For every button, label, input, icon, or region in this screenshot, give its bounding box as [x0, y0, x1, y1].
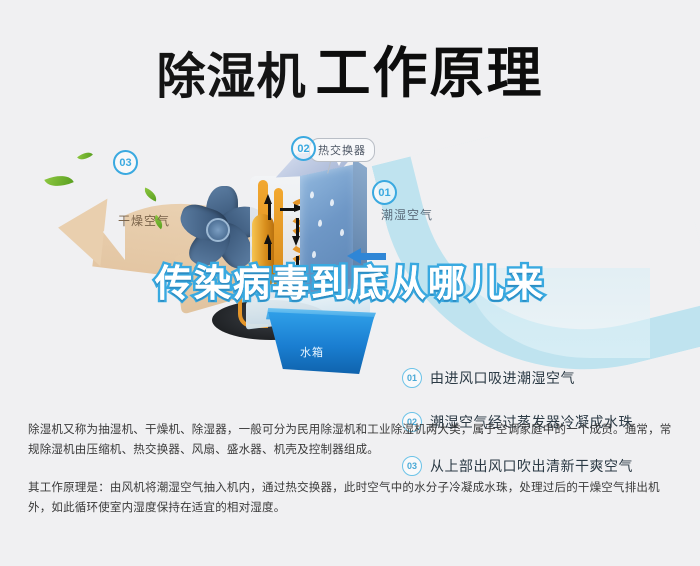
diagram-badge-03: 03: [113, 150, 138, 175]
overlay-headline-stroke: 传染病毒到底从哪儿来: [0, 253, 700, 307]
moist-air-label: 潮湿空气: [381, 206, 433, 223]
flow-stem: [296, 218, 299, 236]
leaf-icon: [77, 148, 93, 163]
step-badge: 01: [402, 368, 422, 388]
body-paragraph-2: 其工作原理是：由风机将潮湿空气抽入机内，通过热交换器，此时空气中的水分子冷凝成水…: [28, 478, 678, 518]
flow-stem: [268, 202, 271, 220]
page-title: 除湿机工作原理: [0, 28, 700, 108]
water-tank-label: 水箱: [300, 344, 324, 360]
step-item: 01 由进风口吸进潮湿空气: [402, 368, 633, 388]
dry-air-label: 干燥空气: [118, 212, 170, 229]
flow-arrow-down-icon: [292, 236, 300, 246]
leaf-icon: [142, 188, 159, 202]
flow-arrow-up-icon: [264, 234, 272, 244]
diagram-badge-01: 01: [372, 180, 397, 205]
diagram-badge-02: 02: [291, 136, 316, 161]
step-label: 由进风口吸进潮湿空气: [430, 368, 575, 388]
leaf-icon: [44, 169, 73, 192]
fan-hub-icon: [206, 218, 230, 242]
body-paragraph-1: 除湿机又称为抽湿机、干燥机、除湿器，一般可分为民用除湿机和工业除湿机两大类，属于…: [28, 420, 678, 460]
flow-stem: [280, 208, 294, 211]
page-title-primary: 除湿机: [156, 50, 306, 104]
water-tank: [268, 312, 374, 374]
page-title-secondary: 工作原理: [316, 42, 544, 104]
flow-arrow-up-icon: [264, 194, 272, 204]
heat-exchanger-callout: 热交换器: [309, 138, 375, 162]
page-root: 除湿机工作原理: [0, 0, 700, 566]
body-copy: 除湿机又称为抽湿机、干燥机、除湿器，一般可分为民用除湿机和工业除湿机两大类，属于…: [28, 420, 678, 536]
